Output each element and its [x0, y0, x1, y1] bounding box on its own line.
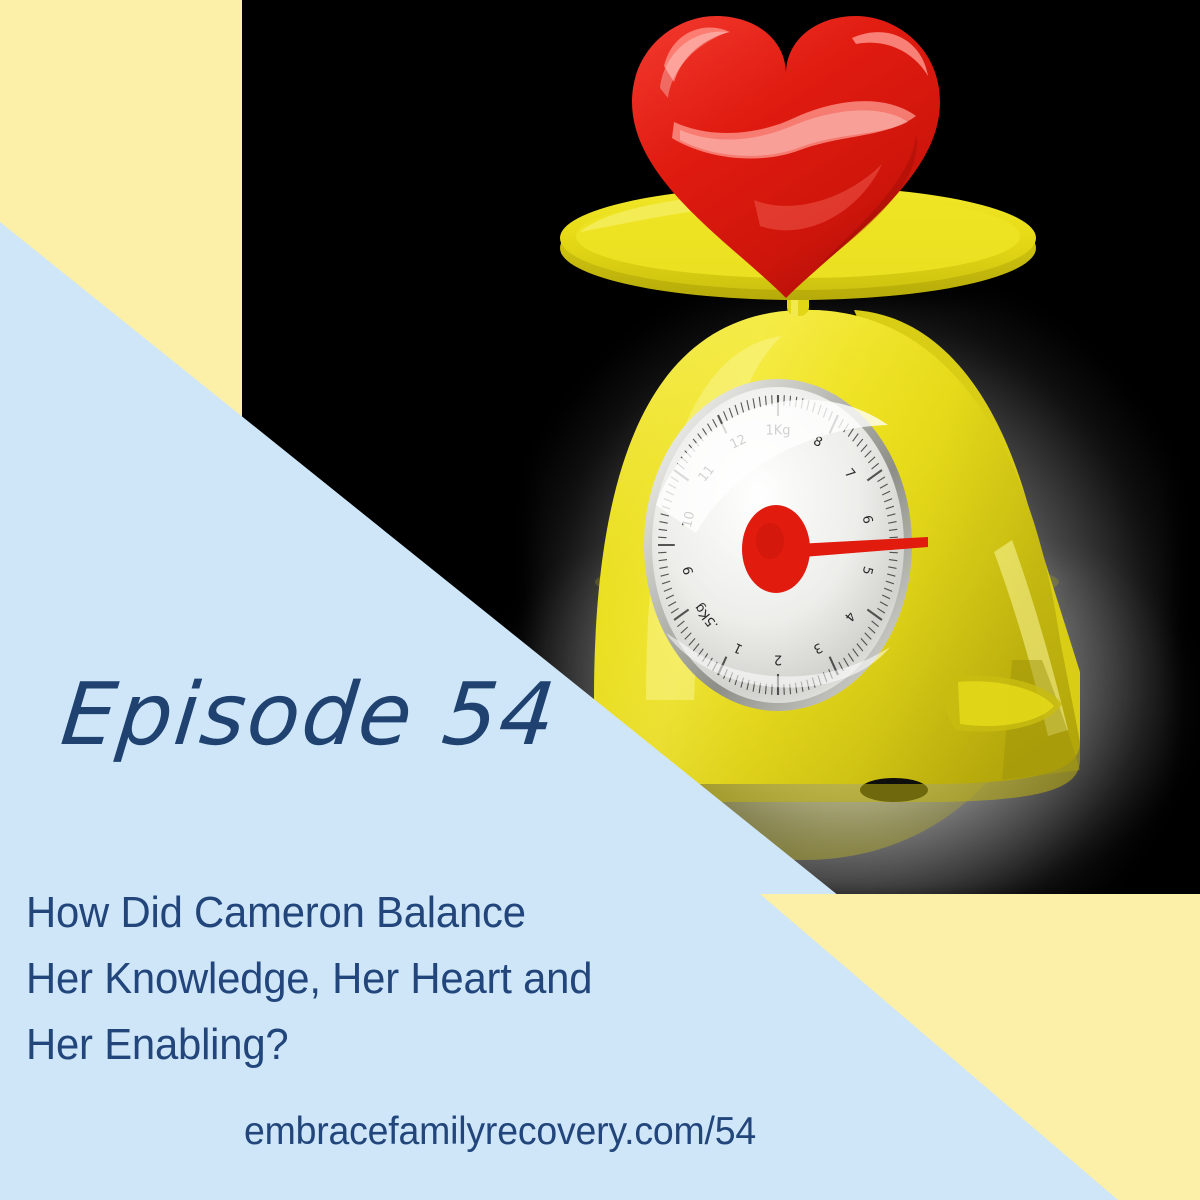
title-line: How Did Cameron Balance: [26, 880, 748, 946]
episode-title: How Did Cameron Balance Her Knowledge, H…: [26, 880, 748, 1078]
podcast-cover-canvas: 1Kg87654321.5Kg9101112: [0, 0, 1200, 1200]
title-line: Her Enabling?: [26, 1012, 748, 1078]
episode-number-label: Episode 54: [57, 672, 561, 758]
title-line: Her Knowledge, Her Heart and: [26, 946, 748, 1012]
website-url: embracefamilyrecovery.com/54: [20, 1110, 980, 1154]
svg-text:2: 2: [774, 652, 782, 667]
